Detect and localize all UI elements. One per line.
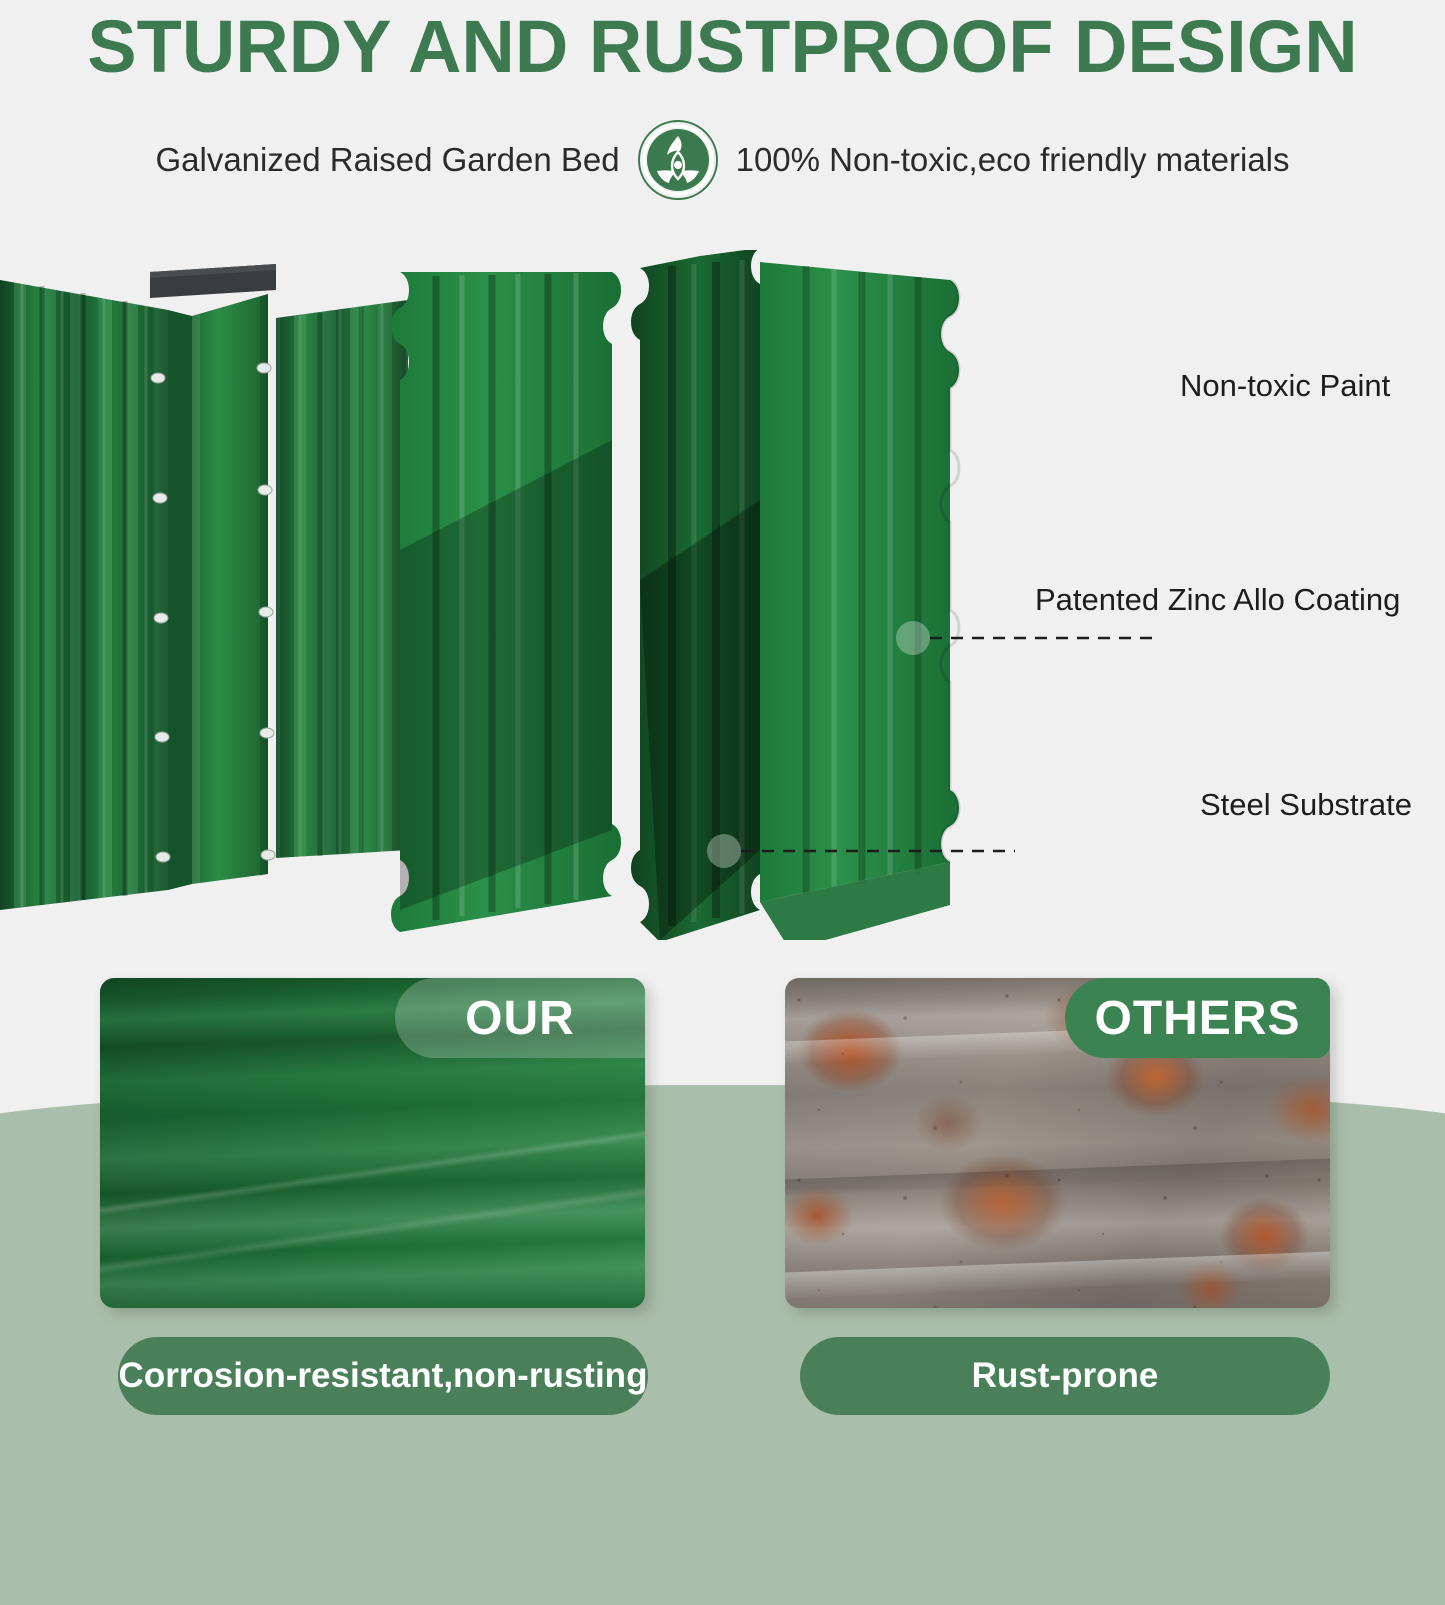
layer-steel-substrate [760, 262, 959, 940]
callout-label-steel-substrate: Steel Substrate [1200, 787, 1412, 823]
caption-others: Rust-prone [800, 1337, 1330, 1415]
subtitle-row: Galvanized Raised Garden Bed 100% Non-to… [0, 118, 1445, 202]
layer-zinc-coating [631, 250, 769, 940]
layer-outer-paint [391, 272, 621, 932]
second-corrugated-wall [276, 300, 408, 858]
comparison-card-others: OTHERS [785, 978, 1330, 1308]
callout-label-non-toxic-paint: Non-toxic Paint [1180, 368, 1390, 404]
subtitle-right: 100% Non-toxic,eco friendly materials [736, 141, 1290, 179]
subtitle-left: Galvanized Raised Garden Bed [155, 141, 619, 179]
caption-our: Corrosion-resistant,non-rusting [118, 1337, 648, 1415]
badge-others: OTHERS [1065, 978, 1330, 1058]
badge-our: OUR [395, 978, 645, 1058]
page-title: STURDY AND RUSTPROOF DESIGN [0, 0, 1445, 84]
callout-label-zinc-coating: Patented Zinc Allo Coating [1035, 582, 1400, 618]
comparison-card-our: OUR [100, 978, 645, 1308]
header: STURDY AND RUSTPROOF DESIGN Galvanized R… [0, 0, 1445, 202]
eco-recycle-leaf-icon [636, 118, 720, 202]
